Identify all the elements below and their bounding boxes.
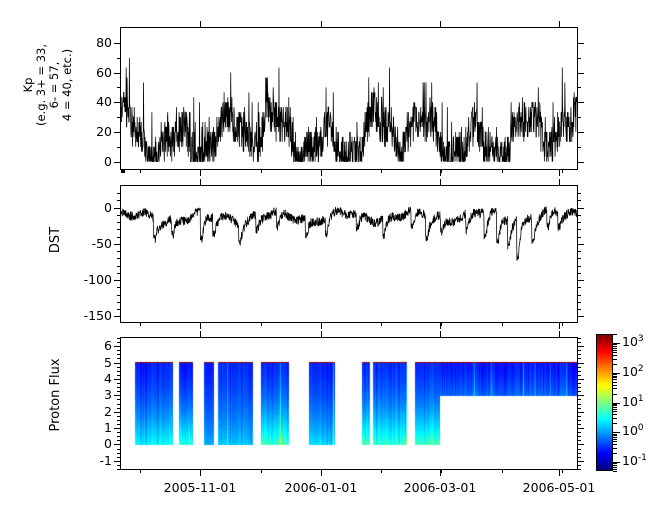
cbar-tick	[613, 432, 620, 433]
x-tick-minor	[140, 170, 141, 173]
flux-ytick	[114, 428, 120, 429]
flux-ytick	[117, 350, 120, 351]
cbar-tick	[613, 379, 617, 380]
dst-ytick-right	[578, 287, 581, 288]
flux-ytick-right	[578, 408, 581, 409]
dst-ytick	[117, 295, 120, 296]
dst-ytick-right	[578, 251, 581, 252]
flux-ytick	[114, 379, 120, 380]
proton-flux-axis-label: Proton Flux	[48, 325, 63, 465]
flux-ytick	[117, 449, 120, 450]
flux-ytick-right	[578, 367, 581, 368]
x-tick-top	[440, 331, 441, 337]
dst-ytick	[114, 280, 120, 281]
x-tick	[559, 470, 560, 476]
flux-ytick-label: 1	[78, 420, 112, 435]
colorbar-label-mantissa: 10	[622, 453, 638, 468]
dst-ytick	[117, 222, 120, 223]
dst-ytick-right	[578, 273, 581, 274]
x-tick	[559, 323, 560, 329]
cbar-tick	[613, 376, 617, 377]
dst-ytick-right	[578, 280, 584, 281]
x-tick-top	[559, 179, 560, 185]
flux-ytick	[117, 358, 120, 359]
kp-ytick	[114, 132, 120, 133]
x-tick-minor	[321, 323, 322, 326]
dst-ytick-right	[578, 222, 581, 223]
figure-root: Kp(e.g. 3+ = 33,6- = 57,4 = 40, etc.) 02…	[0, 0, 665, 523]
cbar-tick	[613, 355, 617, 356]
colorbar-tick-label: 103	[622, 334, 644, 349]
dst-line	[121, 207, 577, 261]
dst-ytick	[117, 266, 120, 267]
x-tick-minor	[321, 170, 322, 173]
x-tick-minor	[140, 323, 141, 326]
colorbar-label-exponent: 0	[638, 423, 644, 433]
flux-ytick-right	[578, 404, 581, 405]
cbar-tick	[613, 453, 617, 454]
flux-ytick-right	[578, 391, 581, 392]
colorbar-label-mantissa: 10	[622, 394, 638, 409]
kp-ytick-right	[578, 162, 584, 163]
flux-ytick	[117, 371, 120, 372]
kp-line	[121, 58, 577, 162]
flux-ytick-right	[578, 399, 581, 400]
flux-ytick-right	[578, 371, 581, 372]
cbar-tick	[613, 418, 617, 419]
cbar-tick	[613, 467, 617, 468]
flux-ytick	[117, 416, 120, 417]
x-tick-minor	[321, 470, 322, 473]
kp-ytick	[117, 87, 120, 88]
dst-ytick-right	[578, 258, 581, 259]
flux-ytick	[117, 404, 120, 405]
flux-ytick-right	[578, 342, 581, 343]
colorbar-tick-label: 102	[622, 364, 644, 379]
flux-ytick	[117, 436, 120, 437]
x-tick-top	[321, 179, 322, 185]
flux-ytick-right	[578, 354, 581, 355]
kp-ytick-label: 20	[74, 124, 112, 139]
cbar-tick	[613, 409, 617, 410]
kp-ytick-right	[578, 73, 584, 74]
dst-ytick	[114, 244, 120, 245]
flux-ytick-right	[578, 395, 584, 396]
cbar-tick	[613, 435, 617, 436]
kp-ytick-right	[578, 87, 581, 88]
colorbar-label-mantissa: 10	[622, 423, 638, 438]
flux-ytick-right	[578, 424, 581, 425]
colorbar-tick-label: 101	[622, 394, 644, 409]
dst-ytick	[117, 309, 120, 310]
flux-ytick-label: 4	[78, 371, 112, 386]
flux-ytick-right	[578, 363, 584, 364]
kp-ytick	[117, 117, 120, 118]
cbar-tick	[613, 414, 617, 415]
flux-ytick-right	[578, 387, 581, 388]
cbar-tick	[613, 444, 617, 445]
cbar-tick	[613, 352, 617, 353]
kp-ytick-right	[578, 117, 581, 118]
dst-ytick-right	[578, 309, 581, 310]
flux-ytick	[117, 383, 120, 384]
colorbar-tick-label: 10-1	[622, 453, 647, 468]
cbar-tick	[613, 405, 617, 406]
colorbar-label-exponent: 3	[638, 334, 644, 344]
flux-ytick	[117, 408, 120, 409]
dst-ytick	[117, 229, 120, 230]
x-tick-minor	[381, 170, 382, 173]
flux-ytick	[117, 391, 120, 392]
kp-xtick	[124, 170, 125, 173]
cbar-tick	[613, 374, 617, 375]
flux-ytick	[117, 469, 120, 470]
flux-ytick-right	[578, 469, 581, 470]
x-tick-minor	[562, 170, 563, 173]
flux-ytick-right	[578, 428, 584, 429]
dst-ytick	[114, 208, 120, 209]
x-tick-minor	[502, 470, 503, 473]
flux-ytick	[114, 346, 120, 347]
cbar-tick	[613, 439, 617, 440]
dst-ytick-label: -150	[68, 308, 112, 323]
flux-ytick	[114, 395, 120, 396]
x-tick-label: 2006-05-01	[501, 480, 617, 495]
dst-ytick	[117, 193, 120, 194]
x-tick-top	[200, 179, 201, 185]
flux-ytick-right	[578, 432, 581, 433]
x-tick-top	[200, 21, 201, 27]
flux-ytick-label: 5	[78, 355, 112, 370]
flux-ytick	[114, 444, 120, 445]
flux-ytick-right	[578, 449, 581, 450]
cbar-tick	[613, 382, 617, 383]
x-tick-minor	[441, 170, 442, 173]
flux-ytick	[117, 338, 120, 339]
flux-ytick-label: -1	[78, 453, 112, 468]
flux-ytick-label: 6	[78, 338, 112, 353]
x-tick-minor	[381, 323, 382, 326]
flux-ytick	[117, 440, 120, 441]
kp-axis-label-line: 4 = 40, etc.)	[61, 10, 74, 160]
dst-axis-label: DST	[48, 180, 63, 300]
kp-ytick	[117, 147, 120, 148]
proton-flux-spectrogram	[121, 338, 577, 469]
x-tick-top	[200, 331, 201, 337]
cbar-tick	[613, 346, 617, 347]
kp-axis-label-line: 6- = 57,	[48, 10, 61, 160]
flux-ytick-right	[578, 436, 581, 437]
flux-ytick-right	[578, 453, 581, 454]
x-tick-minor	[200, 323, 201, 326]
colorbar-label-mantissa: 10	[622, 364, 638, 379]
dst-ytick-right	[578, 237, 581, 238]
x-tick-label: 2006-01-01	[263, 480, 379, 495]
dst-ytick	[117, 287, 120, 288]
x-tick-minor	[200, 470, 201, 473]
cbar-tick	[613, 437, 617, 438]
cbar-tick	[613, 344, 617, 345]
cbar-tick	[613, 469, 617, 470]
x-tick-minor	[562, 323, 563, 326]
cbar-tick	[613, 465, 617, 466]
flux-ytick	[117, 354, 120, 355]
x-tick-top	[559, 21, 560, 27]
x-tick-minor	[562, 470, 563, 473]
colorbar-tick-label: 100	[622, 423, 644, 438]
cbar-tick	[613, 441, 617, 442]
cbar-tick	[613, 334, 617, 335]
flux-ytick-label: 0	[78, 436, 112, 451]
kp-ytick-right	[578, 132, 584, 133]
x-tick-minor	[502, 170, 503, 173]
kp-ytick-right	[578, 58, 581, 59]
dst-ytick-right	[578, 302, 581, 303]
colorbar-label-exponent: 1	[638, 394, 644, 404]
dst-ytick	[117, 237, 120, 238]
kp-plot-area	[121, 28, 577, 169]
cbar-tick	[613, 462, 620, 463]
dst-ytick-right	[578, 208, 584, 209]
cbar-tick	[613, 471, 617, 472]
dst-ytick	[117, 273, 120, 274]
cbar-tick	[613, 364, 617, 365]
dst-ytick	[117, 302, 120, 303]
x-tick-label: 2005-11-01	[142, 480, 258, 495]
cbar-tick	[613, 385, 617, 386]
colorbar-label-exponent: -1	[638, 453, 647, 463]
dst-ytick	[117, 258, 120, 259]
cbar-tick	[613, 373, 620, 374]
cbar-tick	[613, 411, 617, 412]
dst-ytick-right	[578, 295, 581, 296]
x-tick-minor	[502, 323, 503, 326]
kp-ytick-label: 40	[74, 94, 112, 109]
cbar-tick	[613, 463, 617, 464]
cbar-tick	[613, 359, 617, 360]
flux-ytick	[117, 342, 120, 343]
dst-data-trace	[121, 186, 577, 322]
kp-ytick	[114, 102, 120, 103]
x-tick-minor	[441, 323, 442, 326]
cbar-tick	[613, 423, 617, 424]
dst-ytick-right	[578, 229, 581, 230]
dst-ytick	[117, 251, 120, 252]
cbar-tick	[613, 350, 617, 351]
kp-ytick-right	[578, 102, 584, 103]
flux-ytick	[114, 412, 120, 413]
flux-ytick	[117, 453, 120, 454]
x-tick-top	[321, 21, 322, 27]
dst-plot-panel	[120, 185, 578, 323]
dst-plot-area	[121, 186, 577, 322]
kp-ytick-right	[578, 147, 581, 148]
kp-ytick-label: 80	[74, 35, 112, 50]
colorbar-label-mantissa: 10	[622, 334, 638, 349]
cbar-tick	[613, 404, 617, 405]
kp-axis-label-line: (e.g. 3+ = 33,	[35, 10, 48, 160]
flux-ytick	[114, 363, 120, 364]
flux-ytick-right	[578, 465, 581, 466]
flux-ytick-right	[578, 346, 584, 347]
flux-ytick	[117, 465, 120, 466]
colorbar	[596, 334, 613, 471]
x-tick	[559, 170, 560, 176]
cbar-tick	[613, 388, 617, 389]
dst-ytick-label: 0	[68, 200, 112, 215]
flux-ytick	[117, 399, 120, 400]
flux-ytick-right	[578, 412, 584, 413]
dst-ytick	[114, 316, 120, 317]
kp-ytick	[114, 162, 120, 163]
flux-ytick-right	[578, 358, 581, 359]
flux-ytick-right	[578, 350, 581, 351]
x-tick-minor	[441, 470, 442, 473]
flux-ytick-right	[578, 379, 584, 380]
flux-ytick-right	[578, 416, 581, 417]
flux-ytick-label: 2	[78, 404, 112, 419]
flux-ytick	[117, 457, 120, 458]
flux-ytick-right	[578, 375, 581, 376]
flux-ytick-right	[578, 338, 581, 339]
x-tick-minor	[200, 170, 201, 173]
flux-ytick	[114, 461, 120, 462]
x-tick-label: 2006-03-01	[382, 480, 498, 495]
dst-ytick	[117, 200, 120, 201]
cbar-tick	[613, 377, 617, 378]
cbar-tick	[613, 394, 617, 395]
x-tick-minor	[261, 470, 262, 473]
kp-ytick	[114, 73, 120, 74]
flux-ytick-right	[578, 440, 581, 441]
cbar-tick	[613, 403, 620, 404]
cbar-tick	[613, 407, 617, 408]
kp-axis-label-line: Kp	[22, 10, 35, 160]
cbar-tick	[613, 343, 620, 344]
x-tick-minor	[261, 323, 262, 326]
kp-ytick	[117, 58, 120, 59]
x-tick-minor	[381, 470, 382, 473]
cbar-tick	[613, 348, 617, 349]
kp-ytick-label: 60	[74, 65, 112, 80]
dst-ytick-right	[578, 200, 581, 201]
kp-data-trace	[121, 28, 577, 169]
dst-ytick-right	[578, 215, 581, 216]
dst-ytick-right	[578, 316, 584, 317]
kp-axis-label: Kp(e.g. 3+ = 33,6- = 57,4 = 40, etc.)	[22, 10, 74, 160]
cbar-tick	[613, 448, 617, 449]
flux-ytick-right	[578, 457, 581, 458]
flux-ytick-right	[578, 461, 584, 462]
flux-ytick-right	[578, 420, 581, 421]
x-tick-minor	[261, 170, 262, 173]
flux-ytick	[117, 387, 120, 388]
x-tick-minor	[140, 470, 141, 473]
proton-flux-plot-panel	[120, 337, 578, 470]
flux-ytick	[117, 367, 120, 368]
kp-ytick-label: 0	[74, 154, 112, 169]
flux-ytick	[117, 375, 120, 376]
dst-ytick	[117, 215, 120, 216]
flux-ytick	[117, 424, 120, 425]
dst-ytick-right	[578, 266, 581, 267]
flux-ytick-right	[578, 383, 581, 384]
flux-ytick-right	[578, 444, 584, 445]
cbar-tick	[613, 434, 617, 435]
dst-ytick-right	[578, 244, 584, 245]
flux-ytick-label: 3	[78, 387, 112, 402]
flux-ytick	[117, 420, 120, 421]
proton-flux-plot-area	[121, 338, 577, 469]
colorbar-label-exponent: 2	[638, 364, 644, 374]
x-tick-top	[321, 331, 322, 337]
dst-ytick-label: -50	[68, 236, 112, 251]
kp-ytick-right	[578, 43, 584, 44]
kp-plot-panel	[120, 27, 578, 170]
kp-ytick	[114, 43, 120, 44]
dst-ytick-right	[578, 193, 581, 194]
x-tick-top	[440, 179, 441, 185]
flux-ytick	[117, 432, 120, 433]
x-tick-top	[559, 331, 560, 337]
x-tick-top	[440, 21, 441, 27]
dst-ytick-label: -100	[68, 272, 112, 287]
